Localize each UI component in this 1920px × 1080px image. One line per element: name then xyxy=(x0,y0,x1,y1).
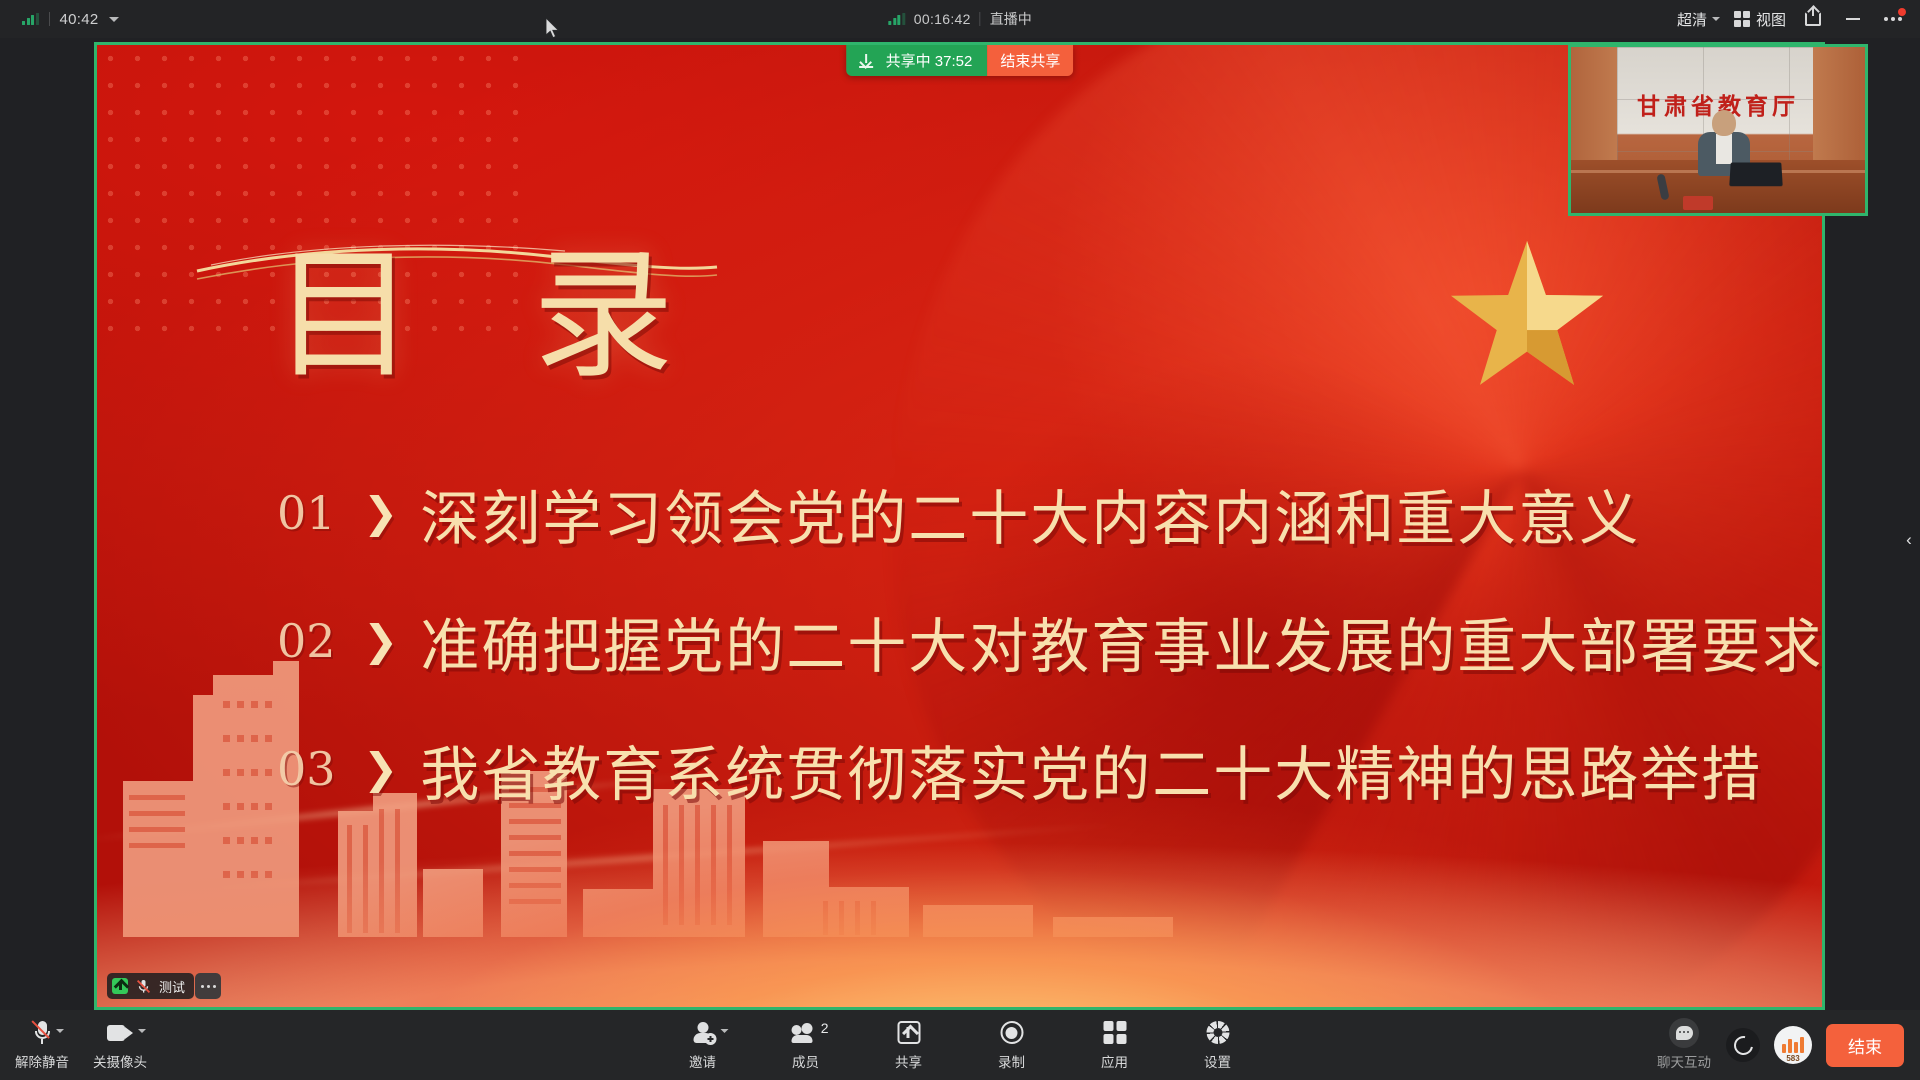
panel-collapse-handle[interactable]: ‹ xyxy=(1902,517,1916,563)
chevron-right-icon: ❯ xyxy=(363,492,398,534)
share-status-bar: 共享中 37:52 结束共享 xyxy=(846,45,1074,76)
apps-grid-icon xyxy=(1103,1020,1126,1046)
members-icon: 2 xyxy=(792,1020,820,1046)
avatar-tag: 583 xyxy=(1786,1054,1799,1063)
grid-view-icon xyxy=(1734,11,1750,27)
presenter-nametag: 测试 xyxy=(107,973,194,999)
share-button[interactable]: 共享 xyxy=(881,1020,937,1071)
chevron-down-icon[interactable] xyxy=(138,1029,146,1033)
presenter-name: 测试 xyxy=(159,977,185,996)
top-bar-left: 40:42 xyxy=(22,11,119,28)
mute-toggle-label: 解除静音 xyxy=(15,1051,69,1071)
table-of-contents: 01 ❯ 深刻学习领会党的二十大内容内涵和重大意义 02 ❯ 准确把握党的二十大… xyxy=(277,449,1822,833)
share-external-button[interactable] xyxy=(1800,6,1826,32)
share-status-pill: 共享中 37:52 xyxy=(846,45,988,76)
invite-user-icon xyxy=(690,1020,715,1046)
apps-button[interactable]: 应用 xyxy=(1087,1020,1143,1071)
toc-text: 准确把握党的二十大对教育事业发展的重大部署要求 xyxy=(420,599,1822,684)
picture-in-picture-video[interactable]: 甘肃省教育厅 xyxy=(1568,44,1868,216)
bottom-toolbar: 解除静音 关摄像头 邀请 xyxy=(0,1010,1920,1080)
signal-bars-icon xyxy=(888,13,905,25)
bottom-toolbar-center: 邀请 2 成员 共享 录制 xyxy=(675,1010,1246,1080)
meeting-app-window: 40:42 00:16:42 直播中 超清 视图 xyxy=(0,0,1920,1080)
toc-item: 01 ❯ 深刻学习领会党的二十大内容内涵和重大意义 xyxy=(277,449,1822,577)
chevron-down-icon[interactable] xyxy=(56,1029,64,1033)
members-label: 成员 xyxy=(792,1051,819,1071)
camera-toggle-button[interactable]: 关摄像头 xyxy=(92,1020,148,1071)
toc-item: 03 ❯ 我省教育系统贯彻落实党的二十大精神的思路举措 xyxy=(277,705,1822,833)
bottom-toolbar-right: 聊天互动 583 结束 xyxy=(1656,1010,1904,1080)
top-bar-center: 00:16:42 直播中 xyxy=(888,9,1031,29)
toc-number: 03 xyxy=(277,742,363,796)
record-icon xyxy=(1000,1020,1023,1046)
dropdown-caret-icon[interactable] xyxy=(109,17,119,22)
gold-star-decoration xyxy=(1447,237,1607,392)
signal-bars-icon xyxy=(22,13,39,25)
chevron-right-icon: ❯ xyxy=(363,620,398,662)
quality-selector[interactable]: 超清 xyxy=(1677,9,1720,30)
quality-label: 超清 xyxy=(1677,9,1707,30)
end-meeting-button[interactable]: 结束 xyxy=(1826,1024,1904,1067)
share-status-text: 共享中 37:52 xyxy=(886,50,973,71)
shared-screen-stage[interactable]: 目 录 01 ❯ 深刻学习领会党的二十大内容内涵和重大意义 02 ❯ 准确把握党… xyxy=(94,42,1825,1010)
bottom-toolbar-left: 解除静音 关摄像头 xyxy=(14,1010,148,1080)
notification-dot xyxy=(1898,8,1906,16)
members-button[interactable]: 2 成员 xyxy=(778,1020,834,1071)
avatar-bars-icon xyxy=(1782,1037,1804,1053)
divider xyxy=(980,12,981,26)
gear-icon xyxy=(1206,1020,1229,1046)
pip-laptop xyxy=(1730,164,1788,190)
chevron-down-icon xyxy=(1712,17,1720,21)
record-button[interactable]: 录制 xyxy=(984,1020,1040,1071)
avatar[interactable]: 583 xyxy=(1774,1026,1812,1064)
chat-bubble-icon xyxy=(1669,1020,1699,1046)
mouse-cursor xyxy=(546,18,560,38)
minimize-button[interactable] xyxy=(1840,6,1866,32)
toc-text: 我省教育系统贯彻落实党的二十大精神的思路举措 xyxy=(420,727,1762,812)
meeting-elapsed-time: 40:42 xyxy=(60,11,99,28)
download-icon xyxy=(859,54,873,68)
divider xyxy=(49,12,50,26)
minimize-icon xyxy=(1846,18,1860,20)
top-bar-right: 超清 视图 xyxy=(1677,6,1906,32)
toc-number: 01 xyxy=(277,486,363,540)
settings-label: 设置 xyxy=(1204,1051,1231,1071)
mute-toggle-button[interactable]: 解除静音 xyxy=(14,1020,70,1071)
chat-button[interactable]: 聊天互动 xyxy=(1656,1020,1712,1071)
chevron-right-icon: ❯ xyxy=(363,748,398,790)
slide-title: 目 录 xyxy=(273,245,710,387)
mic-muted-icon xyxy=(34,1020,51,1046)
view-label: 视图 xyxy=(1756,9,1786,30)
apps-label: 应用 xyxy=(1101,1051,1128,1071)
chevron-down-icon[interactable] xyxy=(720,1029,728,1033)
camera-icon xyxy=(107,1020,133,1046)
share-external-icon xyxy=(1805,12,1821,26)
share-screen-icon xyxy=(897,1020,920,1046)
more-dots-icon xyxy=(1884,17,1902,21)
record-label: 录制 xyxy=(998,1051,1025,1071)
camera-toggle-label: 关摄像头 xyxy=(93,1051,147,1071)
pip-video-frame: 甘肃省教育厅 xyxy=(1571,47,1865,213)
top-bar: 40:42 00:16:42 直播中 超清 视图 xyxy=(0,0,1920,38)
mic-muted-icon xyxy=(136,979,151,994)
more-options-button[interactable] xyxy=(1880,6,1906,32)
chevron-left-icon: ‹ xyxy=(1906,530,1912,550)
stop-share-button[interactable]: 结束共享 xyxy=(987,45,1073,76)
screen-share-icon xyxy=(112,978,128,994)
toc-item: 02 ❯ 准确把握党的二十大对教育事业发展的重大部署要求 xyxy=(277,577,1822,705)
presentation-slide: 目 录 01 ❯ 深刻学习领会党的二十大内容内涵和重大意义 02 ❯ 准确把握党… xyxy=(97,45,1822,1007)
toc-text: 深刻学习领会党的二十大内容内涵和重大意义 xyxy=(420,471,1640,556)
pip-nameplate xyxy=(1683,196,1713,210)
presenter-more-button[interactable] xyxy=(195,973,221,999)
share-label: 共享 xyxy=(895,1051,922,1071)
invite-button[interactable]: 邀请 xyxy=(675,1020,731,1071)
invite-label: 邀请 xyxy=(689,1051,716,1071)
live-elapsed-time: 00:16:42 xyxy=(914,11,971,27)
members-count-badge: 2 xyxy=(821,1020,829,1036)
settings-button[interactable]: 设置 xyxy=(1190,1020,1246,1071)
chat-label: 聊天互动 xyxy=(1657,1051,1711,1071)
toc-number: 02 xyxy=(277,614,363,668)
view-layout-button[interactable]: 视图 xyxy=(1734,9,1786,30)
loop-ring-icon[interactable] xyxy=(1726,1028,1760,1062)
live-status-label: 直播中 xyxy=(990,9,1032,29)
